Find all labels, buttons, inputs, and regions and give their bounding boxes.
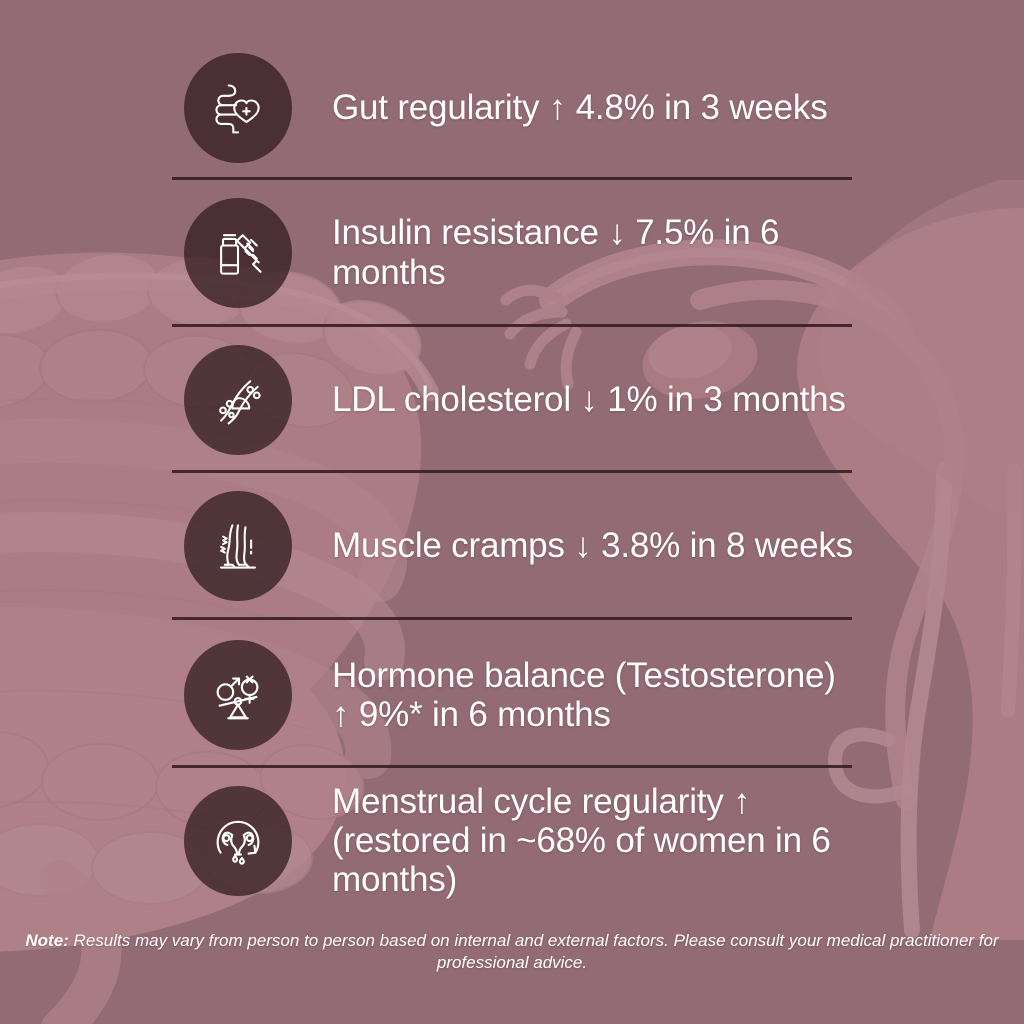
gut-health-icon [208,78,268,138]
gut-health-icon-badge [184,53,292,163]
metrics-list: Gut regularity ↑ 4.8% in 3 weeks [0,0,1024,1024]
metric-row-insulin-resistance[interactable]: Insulin resistance ↓ 7.5% in 6 months [172,195,892,310]
row-divider-2 [172,324,852,327]
row-divider-3 [172,470,852,473]
metric-line1: LDL cholesterol ↓ 1% in 3 months [332,380,846,419]
metric-text-muscle-cramps: Muscle cramps ↓ 3.8% in 8 weeks [332,526,853,565]
artery-cholesterol-icon-badge [184,345,292,455]
uterus-cycle-icon-badge [184,786,292,896]
insulin-syringe-vial-icon [208,223,268,283]
uterus-cycle-icon [207,810,269,872]
artery-cholesterol-icon [208,370,268,430]
hormone-balance-scale-icon [207,664,269,726]
metric-line1: Muscle cramps ↓ 3.8% in 8 weeks [332,526,853,565]
metric-row-menstrual-cycle[interactable]: Menstrual cycle regularity ↑ (restored i… [172,783,892,898]
metric-text-ldl-cholesterol: LDL cholesterol ↓ 1% in 3 months [332,380,846,419]
metric-text-gut-regularity: Gut regularity ↑ 4.8% in 3 weeks [332,88,828,127]
row-divider-5 [172,765,852,768]
leg-cramp-icon-badge [184,491,292,601]
metric-row-muscle-cramps[interactable]: Muscle cramps ↓ 3.8% in 8 weeks [172,488,892,603]
metric-text-insulin-resistance: Insulin resistance ↓ 7.5% in 6 months [332,213,892,291]
disclaimer-note: Note: Results may vary from person to pe… [0,930,1024,975]
metric-row-gut-regularity[interactable]: Gut regularity ↑ 4.8% in 3 weeks [172,50,892,165]
metric-line2: (restored in ~68% of women in 6 months) [332,821,892,899]
leg-cramp-icon [208,516,268,576]
metric-row-hormone-balance[interactable]: Hormone balance (Testosterone) ↑ 9%* in … [172,635,892,755]
metric-row-ldl-cholesterol[interactable]: LDL cholesterol ↓ 1% in 3 months [172,342,892,457]
insulin-syringe-vial-icon-badge [184,198,292,308]
metric-line2: ↑ 9%* in 6 months [332,695,836,734]
note-body: Results may vary from person to person b… [69,931,999,972]
hormone-balance-scale-icon-badge [184,640,292,750]
metric-text-hormone-balance: Hormone balance (Testosterone) ↑ 9%* in … [332,656,836,734]
metric-line1: Gut regularity ↑ 4.8% in 3 weeks [332,88,828,127]
infographic-canvas: Gut regularity ↑ 4.8% in 3 weeks [0,0,1024,1024]
metric-line1: Insulin resistance ↓ 7.5% in 6 months [332,213,779,291]
note-label: Note: [25,931,68,950]
metric-line1: Menstrual cycle regularity ↑ [332,782,750,821]
row-divider-1 [172,177,852,180]
metric-text-menstrual-cycle: Menstrual cycle regularity ↑ (restored i… [332,782,892,900]
row-divider-4 [172,617,852,620]
metric-line1: Hormone balance (Testosterone) [332,656,836,695]
